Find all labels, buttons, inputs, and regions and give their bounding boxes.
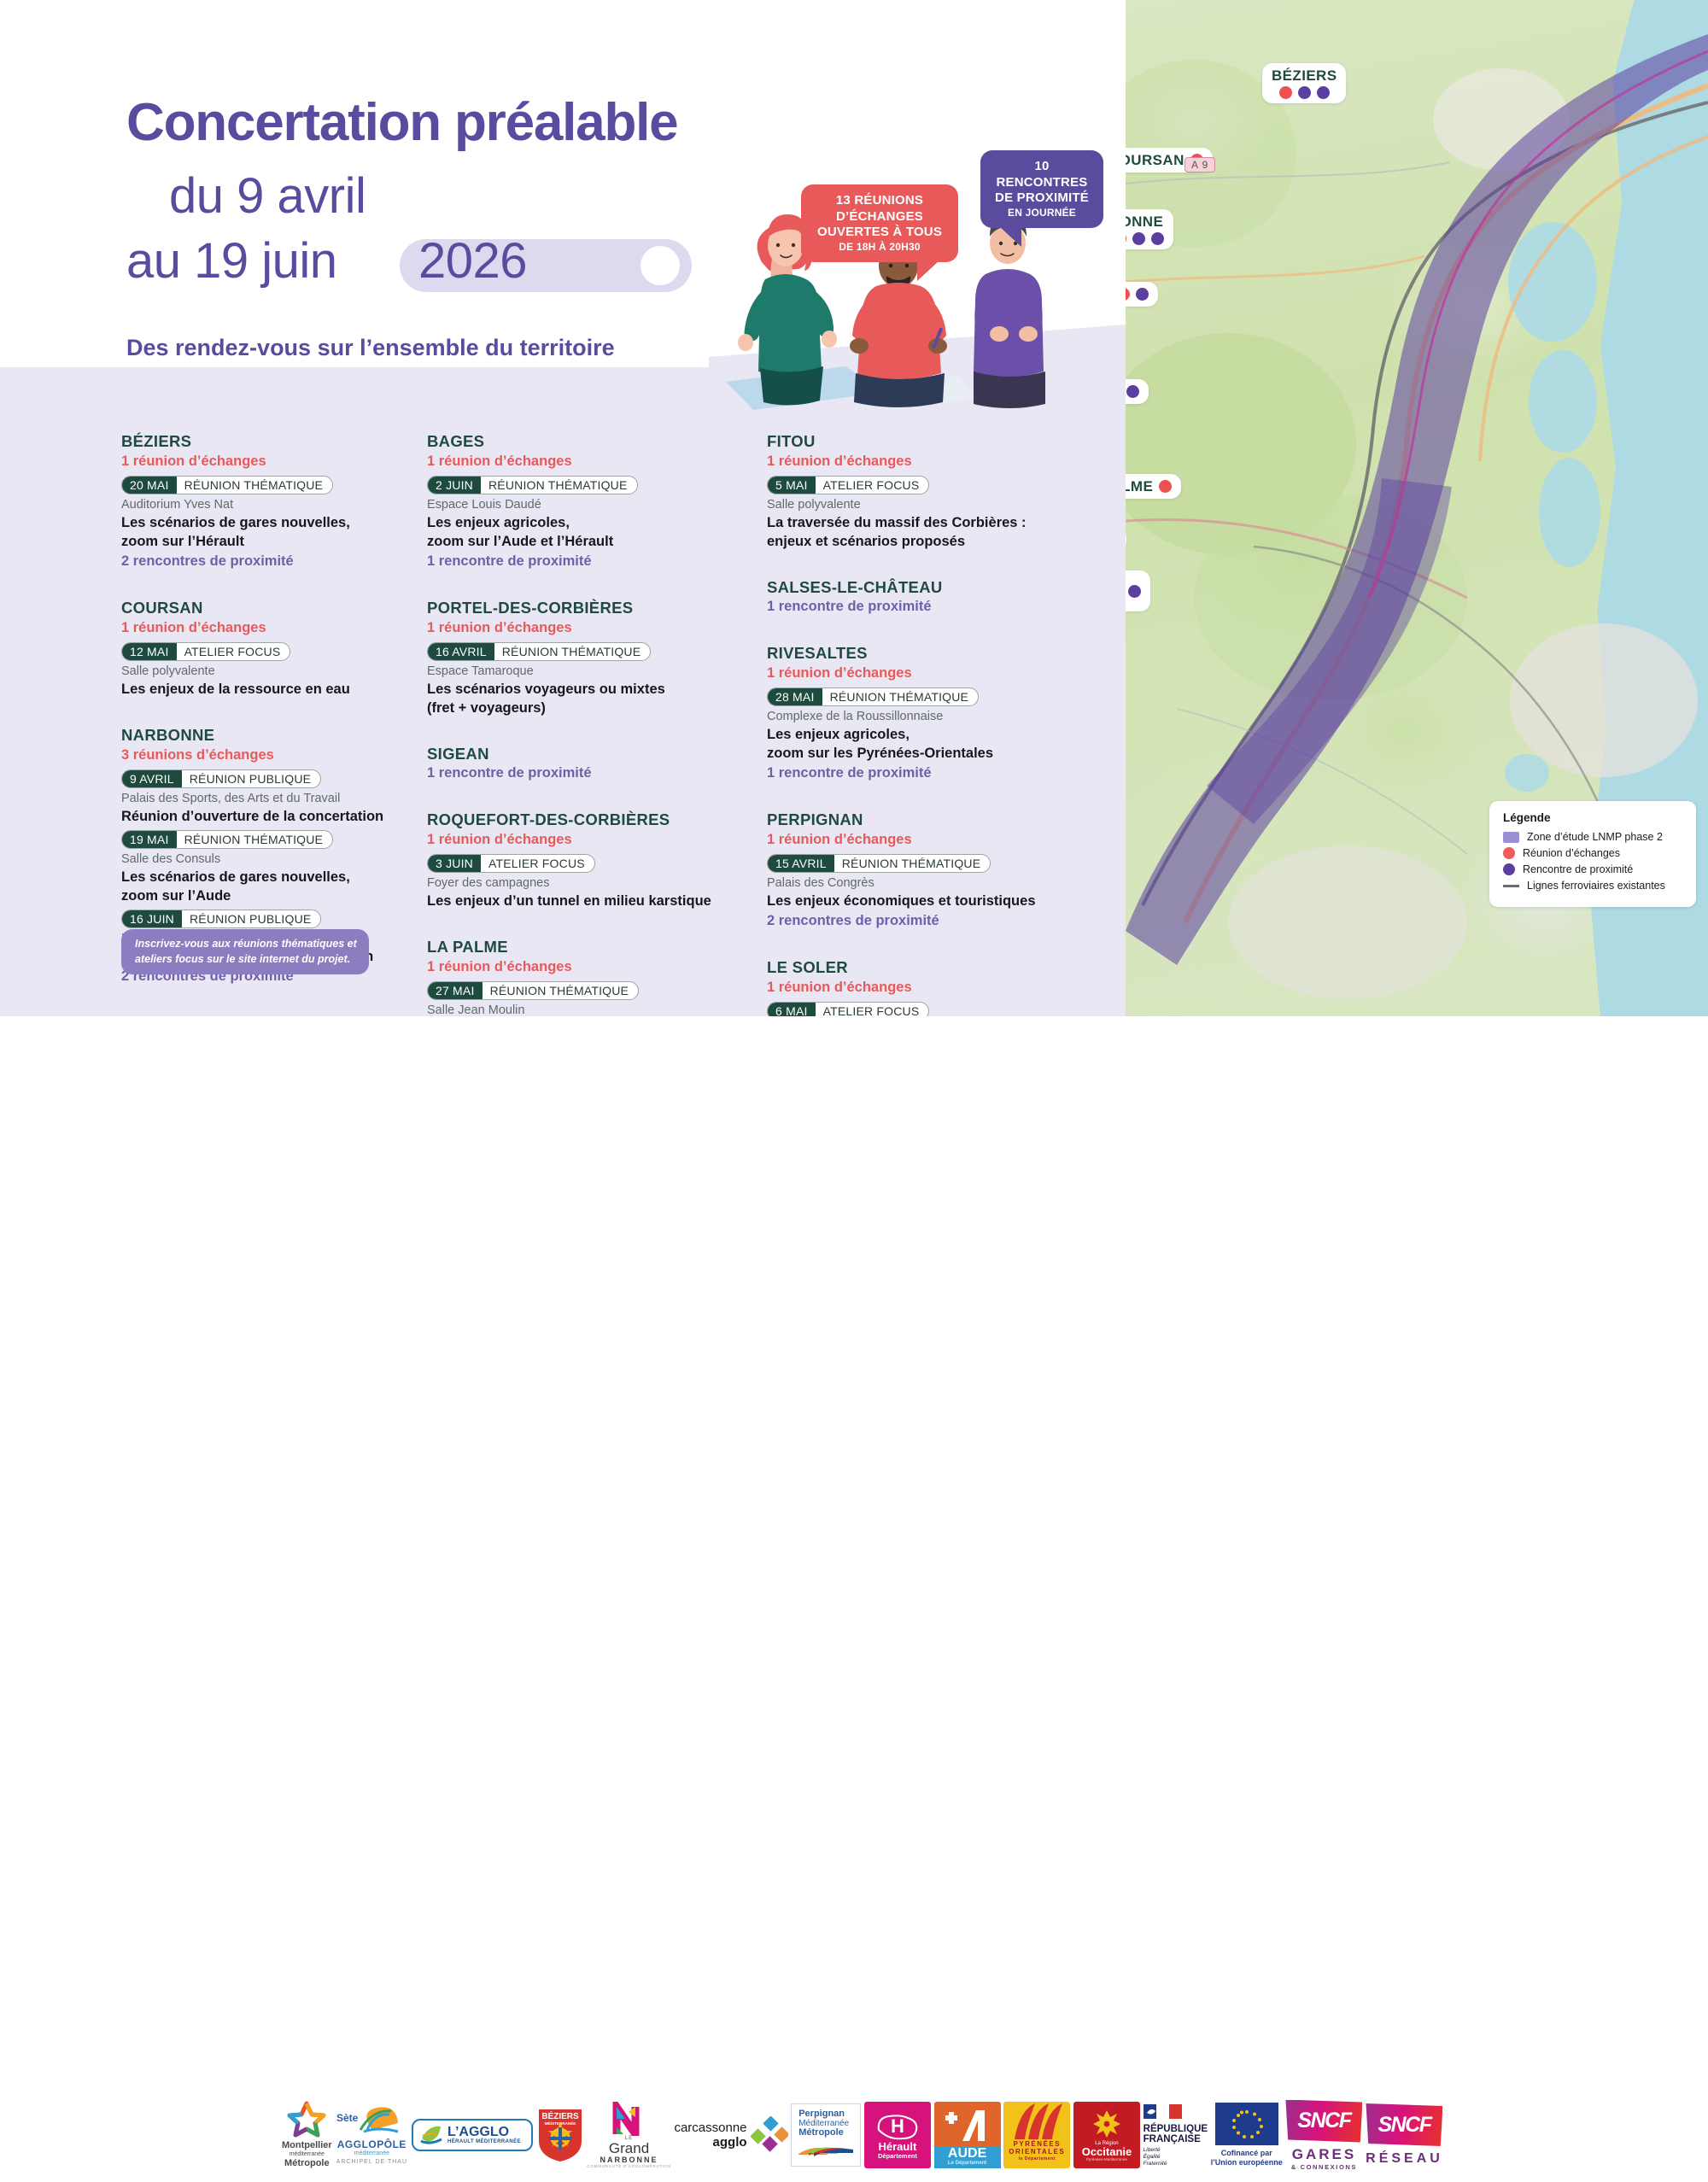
date-range-end-wrap: au 19 juin [126, 232, 337, 290]
event-tag: 28 MAIRÉUNION THÉMATIQUE [767, 687, 979, 706]
logo-line4: COMMUNAUTÉ D’AGGLOMÉRATION [587, 2164, 670, 2168]
map-pill-bages: BAGES [1126, 282, 1158, 307]
logo-line3: Métropole [282, 2158, 332, 2169]
occitanie-cross-icon [1090, 2109, 1124, 2139]
registration-note: Inscrivez-vous aux réunions thématiques … [121, 929, 369, 974]
legend-label: Zone d’étude LNMP phase 2 [1527, 831, 1663, 843]
event-tag: 3 JUINATELIER FOCUS [427, 854, 595, 873]
event-entry: 27 MAIRÉUNION THÉMATIQUESalle Jean Mouli… [427, 981, 726, 1016]
logo-line2: HÉRAULT MÉDITERRANÉE [447, 2139, 521, 2144]
partner-logos-footer: Montpellier méditerranée Métropole Sète … [0, 1016, 1708, 1222]
city-block: SALSES-LE-CHÂTEAU1 rencontre de proximit… [767, 577, 1074, 617]
logo-pyrenees-orientales-le-departement: PYRÉNÉES ORIENTALES le Département [1003, 2102, 1070, 2168]
logo-line2: Méditerranée [798, 2120, 853, 2129]
logo-line1: AUDE [934, 2147, 1001, 2161]
event-type: RÉUNION THÉMATIQUE [834, 855, 991, 872]
logo-line2: méditerranée [282, 2151, 332, 2158]
logo-lagglo-herault-mediterranee: L’AGGLO HÉRAULT MÉDITERRANÉE [412, 2119, 533, 2151]
proximity-dot-icon [1503, 863, 1515, 875]
logo-line2: ORIENTALES [1009, 2149, 1065, 2156]
city-block: PERPIGNAN1 réunion d’échanges15 AVRILRÉU… [767, 810, 1074, 932]
map-pill-label: LA PALME [1126, 478, 1153, 494]
event-type: RÉUNION THÉMATIQUE [481, 477, 637, 494]
city-name: LE SOLER [767, 957, 1074, 977]
event-entry: 6 MAIATELIER FOCUSSalle des fêtesLe cont… [767, 1002, 1074, 1016]
logo-line2: AGGLOPÔLE [337, 2138, 407, 2150]
meeting-dot-icon [1279, 86, 1292, 99]
map-pill-label: BÉZIERS [1272, 67, 1337, 84]
event-entry: 19 MAIRÉUNION THÉMATIQUESalle des Consul… [121, 830, 412, 906]
event-tag: 6 MAIATELIER FOCUS [767, 1002, 929, 1016]
logo-union-europeenne: Cofinancé par l’Union européenne [1211, 2103, 1283, 2168]
logo-republique-francaise: RÉPUBLIQUE FRANÇAISE Liberté Égalité Fra… [1144, 2103, 1208, 2167]
event-date: 20 MAI [121, 476, 177, 494]
pyrenees-flames-icon [1006, 2102, 1067, 2141]
city-block: FITOU1 réunion d’échanges5 MAIATELIER FO… [767, 431, 1074, 552]
city-block: COURSAN1 réunion d’échanges12 MAIATELIER… [121, 598, 412, 699]
aude-mark-icon [942, 2107, 993, 2144]
perpignan-waves-icon [798, 2141, 853, 2156]
meetings-count: 1 réunion d’échanges [767, 830, 1074, 851]
bubble-proximity-line2: DE PROXIMITÉ [995, 190, 1089, 207]
event-entry: 15 AVRILRÉUNION THÉMATIQUEPalais des Con… [767, 854, 1074, 911]
date-range-end: au 19 juin [126, 232, 337, 290]
event-entry: 5 MAIATELIER FOCUSSalle polyvalenteLa tr… [767, 476, 1074, 552]
logo-sete-agglopole-mediterranee: Sète AGGLOPÔLE méditerranée ARCHIPEL DE … [335, 2104, 408, 2166]
event-venue: Palais des Sports, des Arts et du Travai… [121, 790, 412, 807]
event-type: ATELIER FOCUS [177, 643, 290, 660]
legend-row: Réunion d’échanges [1503, 847, 1684, 859]
proximity-dot-icon [1126, 385, 1139, 398]
bubble-meetings-line1: 13 RÉUNIONS D’ÉCHANGES [815, 193, 945, 225]
event-entry: 12 MAIATELIER FOCUSSalle polyvalenteLes … [121, 642, 412, 699]
legend-row: Zone d’étude LNMP phase 2 [1503, 831, 1684, 843]
year-label: 2026 [418, 232, 527, 290]
logo-line1: L’AGGLO [447, 2126, 521, 2139]
event-date: 9 AVRIL [121, 769, 182, 788]
city-block: BAGES1 réunion d’échanges2 JUINRÉUNION T… [427, 431, 726, 572]
event-venue: Auditorium Yves Nat [121, 496, 412, 513]
event-tag: 5 MAIATELIER FOCUS [767, 476, 929, 494]
legend-label: Rencontre de proximité [1523, 863, 1633, 875]
event-venue: Salle polyvalente [767, 496, 1074, 513]
event-theme: Les scénarios voyageurs ou mixtes (fret … [427, 681, 726, 718]
bubble-proximity: 10 RENCONTRES DE PROXIMITÉ EN JOURNÉE [980, 150, 1103, 228]
beziers-shield-icon: BÉZIERS MÉDITERRANÉE [536, 2107, 584, 2163]
logo-line1: Hérault [879, 2141, 917, 2152]
city-name: LA PALME [427, 937, 726, 956]
event-date: 16 AVRIL [427, 642, 494, 661]
event-date: 27 MAI [427, 981, 483, 1000]
logo-line1: PYRÉNÉES [1013, 2141, 1061, 2149]
meeting-dot-icon [1159, 480, 1172, 493]
event-tag: 9 AVRILRÉUNION PUBLIQUE [121, 769, 321, 788]
event-type: RÉUNION THÉMATIQUE [177, 831, 333, 848]
logo-line3: & CONNEXIONS [1291, 2163, 1357, 2171]
event-theme: Les enjeux agricoles, zoom sur les Pyrén… [767, 726, 1074, 763]
marianne-flag-icon [1144, 2103, 1184, 2121]
logo-line2: MÉDITERRANÉE [544, 2120, 576, 2126]
logo-line3: Métropole [798, 2128, 853, 2138]
legend-label: Lignes ferroviaires existantes [1527, 880, 1665, 892]
events-column-2: BAGES1 réunion d’échanges2 JUINRÉUNION T… [427, 431, 726, 1016]
event-tag: 12 MAIATELIER FOCUS [121, 642, 290, 661]
event-type: RÉUNION THÉMATIQUE [494, 643, 651, 660]
event-theme: Les enjeux agricoles, zoom sur l’Aude et… [427, 514, 726, 552]
herault-map-icon: H [875, 2111, 920, 2140]
event-venue: Espace Tamaroque [427, 663, 726, 680]
events-column-1: BÉZIERS1 réunion d’échanges20 MAIRÉUNION… [121, 431, 412, 1013]
map-pill-label: NARBONNE [1126, 214, 1163, 230]
motorway-shield: A 9 [1184, 157, 1215, 173]
logo-la-region-occitanie: La Région Occitanie Pyrénées-Méditerrané… [1073, 2102, 1140, 2168]
map-pill-dots [1128, 585, 1141, 598]
logo-carcassonne-agglo: carcassonne agglo [674, 2116, 787, 2154]
proximity-count: 1 rencontre de proximité [427, 763, 726, 784]
logo-le-grand-narbonne: LE Grand NARBONNE COMMUNAUTÉ D’AGGLOMÉRA… [587, 2102, 670, 2168]
meetings-count: 1 réunion d’échanges [427, 618, 726, 639]
event-theme: La traversée du massif des Corbières : e… [767, 514, 1074, 552]
event-tag: 2 JUINRÉUNION THÉMATIQUE [427, 476, 638, 494]
meetings-count: 1 réunion d’échanges [121, 452, 412, 472]
city-name: BAGES [427, 431, 726, 451]
logo-line1: Cofinancé par [1221, 2149, 1272, 2158]
proximity-count: 1 rencontre de proximité [427, 552, 726, 572]
legend-row: Lignes ferroviaires existantes [1503, 880, 1684, 892]
logo-line2: Département [878, 2152, 917, 2160]
city-name: FITOU [767, 431, 1074, 451]
proximity-count: 1 rencontre de proximité [767, 597, 1074, 617]
map-pill-la palme: LA PALME [1126, 474, 1181, 499]
logo-line4: Égalité [1144, 2154, 1208, 2161]
meetings-count: 1 réunion d’échanges [427, 957, 726, 978]
bubble-meetings: 13 RÉUNIONS D’ÉCHANGES OUVERTES À TOUS D… [801, 184, 958, 262]
grand-narbonne-n-icon [606, 2102, 652, 2136]
map-pill-dots [1126, 288, 1149, 301]
city-name: BÉZIERS [121, 431, 412, 451]
montpellier-star-icon [286, 2101, 327, 2140]
logo-line1: SNCF [1297, 2109, 1350, 2133]
bubble-meetings-line2: OUVERTES À TOUS [817, 225, 942, 241]
poster-left-panel: Concertation préalable du 9 avril au 19 … [0, 0, 1126, 1016]
map-legend: Légende Zone d’étude LNMP phase 2Réunion… [1489, 801, 1696, 907]
bubble-proximity-line3: EN JOURNÉE [1008, 207, 1076, 220]
date-range-start: du 9 avril [169, 167, 366, 225]
proximity-dot-icon [1298, 86, 1311, 99]
bubble-meetings-line3: DE 18H À 20H30 [839, 241, 921, 254]
city-name: COURSAN [121, 598, 412, 617]
map-pill-dots [1126, 385, 1139, 398]
svg-text:H: H [891, 2115, 904, 2137]
poster-header: Concertation préalable du 9 avril au 19 … [0, 0, 1126, 376]
carcassonne-diamonds-icon [751, 2116, 788, 2154]
event-tag: 16 AVRILRÉUNION THÉMATIQUE [427, 642, 651, 661]
event-entry: 3 JUINATELIER FOCUSFoyer des campagnesLe… [427, 854, 726, 911]
logo-beziers-mediterranee: BÉZIERS MÉDITERRANÉE [536, 2107, 584, 2163]
event-entry: 20 MAIRÉUNION THÉMATIQUEAuditorium Yves … [121, 476, 412, 552]
logo-line1: SNCF [1378, 2113, 1430, 2138]
event-type: RÉUNION THÉMATIQUE [177, 477, 333, 494]
event-tag: 19 MAIRÉUNION THÉMATIQUE [121, 830, 333, 849]
event-entry: 2 JUINRÉUNION THÉMATIQUEEspace Louis Dau… [427, 476, 726, 552]
event-date: 3 JUIN [427, 854, 481, 873]
events-column-3: FITOU1 réunion d’échanges5 MAIATELIER FO… [767, 431, 1074, 1016]
logo-line3: méditerranée [354, 2150, 389, 2156]
logo-strip: Montpellier méditerranée Métropole Sète … [282, 2088, 1443, 2182]
city-name: PORTEL-DES-CORBIÈRES [427, 598, 726, 617]
eu-flag-icon [1215, 2103, 1278, 2145]
event-theme: Réunion d’ouverture de la concertation [121, 808, 412, 827]
agglo-leaf-icon [420, 2125, 442, 2145]
logo-line2: Grand [609, 2141, 649, 2156]
logo-montpellier-mediterranee-metropole: Montpellier méditerranée Métropole [282, 2101, 332, 2168]
year-pill-knob [640, 246, 680, 285]
proximity-dot-icon [1136, 288, 1149, 301]
event-date: 5 MAI [767, 476, 816, 494]
event-tag: 16 JUINRÉUNION PUBLIQUE [121, 910, 321, 928]
legend-rows: Zone d’étude LNMP phase 2Réunion d’échan… [1503, 831, 1684, 892]
map-pill-narbonne: NARBONNE [1126, 209, 1173, 249]
logo-line1: RÉPUBLIQUE [1144, 2124, 1208, 2134]
event-date: 19 MAI [121, 830, 177, 849]
event-date: 28 MAI [767, 687, 822, 706]
logo-perpignan-mediterranee-metropole: Perpignan Méditerranée Métropole [791, 2103, 861, 2167]
city-block: SIGEAN1 rencontre de proximité [427, 744, 726, 784]
map-pill-béziers: BÉZIERS [1262, 63, 1346, 103]
event-date: 6 MAI [767, 1002, 816, 1016]
logo-line1: Perpignan [798, 2109, 853, 2120]
city-name: NARBONNE [121, 725, 412, 745]
meetings-count: 1 réunion d’échanges [427, 452, 726, 472]
event-entry: 28 MAIRÉUNION THÉMATIQUEComplexe de la R… [767, 687, 1074, 763]
legend-row: Rencontre de proximité [1503, 863, 1684, 875]
event-date: 16 JUIN [121, 910, 182, 928]
city-block: BÉZIERS1 réunion d’échanges20 MAIRÉUNION… [121, 431, 412, 572]
logo-line3: le Département [1019, 2156, 1056, 2162]
event-tag: 15 AVRILRÉUNION THÉMATIQUE [767, 854, 991, 873]
event-type: RÉUNION PUBLIQUE [182, 770, 320, 787]
logo-line1: BÉZIERS [541, 2110, 579, 2121]
logo-sncf-gares-connexions: SNCF GARES & CONNEXIONS [1285, 2100, 1362, 2171]
meeting-dot-icon [1126, 288, 1130, 301]
logo-line4: ARCHIPEL DE THAU [336, 2159, 407, 2166]
study-zone-swatch-icon [1503, 832, 1519, 843]
meetings-count: 1 réunion d’échanges [767, 452, 1074, 472]
sete-sun-icon: Sète [335, 2104, 408, 2138]
logo-line2: GARES [1292, 2146, 1356, 2163]
event-tag: 27 MAIRÉUNION THÉMATIQUE [427, 981, 639, 1000]
proximity-count: 1 rencontre de proximité [767, 763, 1074, 784]
event-type: RÉUNION THÉMATIQUE [822, 688, 979, 705]
event-entry: 16 AVRILRÉUNION THÉMATIQUEEspace Tamaroq… [427, 642, 726, 718]
page-title: Concertation préalable [126, 92, 677, 153]
meetings-count: 1 réunion d’échanges [427, 830, 726, 851]
event-venue: Salle polyvalente [121, 663, 412, 680]
meetings-count: 1 réunion d’échanges [121, 618, 412, 639]
page-subtitle: Des rendez-vous sur l’ensemble du territ… [126, 335, 615, 361]
logo-herault-departement: H Hérault Département [864, 2102, 931, 2168]
event-type: ATELIER FOCUS [816, 1003, 929, 1016]
event-venue: Salle des Consuls [121, 851, 412, 868]
event-theme: Les enjeux de la ressource en eau [121, 681, 412, 699]
logo-line2: FRANÇAISE [1144, 2134, 1208, 2144]
legend-title: Légende [1503, 811, 1684, 824]
city-name: RIVESALTES [767, 643, 1074, 663]
event-venue: Palais des Congrès [767, 875, 1074, 892]
logo-line3: Liberté [1144, 2147, 1208, 2154]
proximity-dot-icon [1132, 232, 1145, 245]
city-name: SIGEAN [427, 744, 726, 763]
event-venue: Complexe de la Roussillonnaise [767, 708, 1074, 725]
meeting-dot-icon [1126, 232, 1126, 245]
proximity-count: 2 rencontres de proximité [121, 552, 412, 572]
city-block: LE SOLER1 réunion d’échanges6 MAIATELIER… [767, 957, 1074, 1016]
territory-map: Légende Zone d’étude LNMP phase 2Réunion… [1126, 0, 1708, 1016]
logo-line3: Pyrénées-Méditerranée [1086, 2157, 1127, 2162]
city-name: ROQUEFORT-DES-CORBIÈRES [427, 810, 726, 829]
city-block: PORTEL-DES-CORBIÈRES1 réunion d’échanges… [427, 598, 726, 718]
legend-label: Réunion d’échanges [1523, 847, 1620, 859]
event-type: ATELIER FOCUS [816, 477, 929, 494]
proximity-dot-icon [1128, 585, 1141, 598]
event-type: RÉUNION PUBLIQUE [182, 910, 320, 927]
map-pill-salses--le-château: SALSES- LE-CHÂTEAU [1126, 570, 1150, 611]
proximity-count: 2 rencontres de proximité [767, 911, 1074, 932]
logo-line1: Montpellier [282, 2140, 332, 2151]
map-pill-sigean: SIGEAN [1126, 379, 1149, 404]
logo-line1: Sète [336, 2112, 359, 2124]
logo-aude-le-departement: AUDE Le Département [934, 2102, 1001, 2168]
event-theme: Les scénarios de gares nouvelles, zoom s… [121, 514, 412, 552]
city-block: LA PALME1 réunion d’échanges27 MAIRÉUNIO… [427, 937, 726, 1016]
event-venue: Espace Louis Daudé [427, 496, 726, 513]
event-tag: 20 MAIRÉUNION THÉMATIQUE [121, 476, 333, 494]
event-venue: Foyer des campagnes [427, 875, 726, 892]
map-pill-label: COURSAN [1126, 152, 1184, 168]
meetings-count: 3 réunions d’échanges [121, 746, 412, 766]
logo-line2: l’Union européenne [1211, 2158, 1283, 2167]
logo-line5: Fraternité [1144, 2161, 1208, 2167]
map-pill-dots [1126, 232, 1164, 245]
proximity-dot-icon [1317, 86, 1330, 99]
event-date: 2 JUIN [427, 476, 481, 494]
event-entry: 9 AVRILRÉUNION PUBLIQUEPalais des Sports… [121, 769, 412, 827]
logo-line2: RÉSEAU [1366, 2151, 1443, 2167]
logo-line1: carcassonne [674, 2121, 746, 2135]
meetings-count: 1 réunion d’échanges [767, 978, 1074, 998]
city-name: SALSES-LE-CHÂTEAU [767, 577, 1074, 597]
event-theme: Les enjeux d’un tunnel en milieu karstiq… [427, 892, 726, 911]
city-name: PERPIGNAN [767, 810, 1074, 829]
logo-line2: Le Département [934, 2161, 1001, 2166]
map-pill-dots [1159, 480, 1172, 493]
event-date: 12 MAI [121, 642, 177, 661]
city-block: ROQUEFORT-DES-CORBIÈRES1 réunion d’échan… [427, 810, 726, 911]
map-pill-dots [1279, 86, 1330, 99]
event-theme: Les enjeux économiques et touristiques [767, 892, 1074, 911]
logo-line2: Occitanie [1082, 2146, 1132, 2157]
meetings-count: 1 réunion d’échanges [767, 664, 1074, 684]
event-date: 15 AVRIL [767, 854, 834, 873]
logo-line3: NARBONNE [600, 2156, 658, 2164]
event-type: RÉUNION THÉMATIQUE [483, 982, 639, 999]
event-venue: Salle Jean Moulin [427, 1002, 726, 1016]
railway-line-icon [1503, 885, 1519, 887]
event-theme: Les scénarios de gares nouvelles, zoom s… [121, 869, 412, 906]
bubble-proximity-line1: 10 RENCONTRES [994, 159, 1090, 190]
city-block: RIVESALTES1 réunion d’échanges28 MAIRÉUN… [767, 643, 1074, 784]
meeting-dot-icon [1503, 847, 1515, 859]
logo-sncf-reseau: SNCF RÉSEAU [1366, 2103, 1443, 2167]
event-type: ATELIER FOCUS [481, 855, 594, 872]
proximity-dot-icon [1151, 232, 1164, 245]
logo-line2: agglo [674, 2135, 746, 2150]
